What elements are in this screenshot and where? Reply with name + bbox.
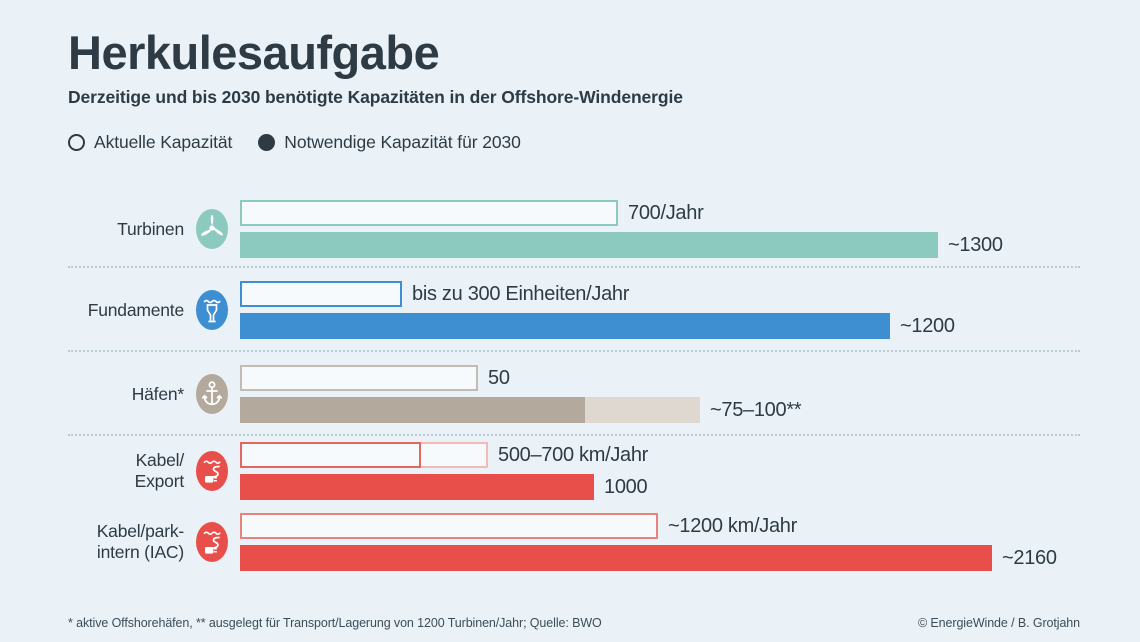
bar-target-haefen [240, 397, 700, 423]
bar-segment-strong [240, 442, 421, 468]
bar-value-current-kabel-iac: ~1200 km/Jahr [668, 515, 797, 538]
bar-current-turbinen [240, 200, 618, 226]
infographic-canvas: Herkulesaufgabe Derzeitige und bis 2030 … [0, 0, 1140, 642]
chart-rows: Turbinen 700/Jahr [0, 190, 1140, 578]
bar-line-current-kabel-export: 500–700 km/Jahr [240, 442, 1120, 468]
bar-current-haefen [240, 365, 478, 391]
bar-line-target-kabel-iac: ~2160 [240, 545, 1120, 571]
cable-plug-icon [194, 449, 230, 493]
page-title: Herkulesaufgabe [68, 28, 1068, 77]
bar-value-current-haefen: 50 [488, 367, 510, 390]
bar-value-target-haefen: ~75–100** [710, 399, 801, 422]
filled-circle-icon [258, 134, 275, 151]
bar-current-kabel-iac [240, 513, 658, 539]
bar-target-kabel-export [240, 474, 594, 500]
legend-item-current: Aktuelle Kapazität [68, 132, 232, 153]
bar-line-target-haefen: ~75–100** [240, 397, 1120, 423]
bar-target-fundamente [240, 313, 890, 339]
row-label-turbinen: Turbinen [68, 219, 194, 240]
bar-value-target-kabel-export: 1000 [604, 476, 647, 499]
wind-turbine-icon [194, 207, 230, 251]
bars-kabel-iac: ~1200 km/Jahr ~2160 [240, 513, 1120, 571]
bar-line-current-kabel-iac: ~1200 km/Jahr [240, 513, 1120, 539]
chart-row-kabel-iac: Kabel/park- intern (IAC) [0, 506, 1140, 578]
bar-value-target-fundamente: ~1200 [900, 315, 955, 338]
bar-line-target-fundamente: ~1200 [240, 313, 1120, 339]
legend: Aktuelle Kapazität Notwendige Kapazität … [68, 132, 521, 153]
bar-value-current-fundamente: bis zu 300 Einheiten/Jahr [412, 283, 629, 306]
credit-text: © EnergieWinde / B. Grotjahn [918, 616, 1080, 630]
chart-row-turbinen: Turbinen 700/Jahr [0, 190, 1140, 268]
bar-value-target-turbinen: ~1300 [948, 234, 1003, 257]
cable-plug-icon [194, 520, 230, 564]
bar-value-current-kabel-export: 500–700 km/Jahr [498, 444, 648, 467]
bar-target-turbinen [240, 232, 938, 258]
bar-segment-light [585, 397, 700, 423]
legend-label-target: Notwendige Kapazität für 2030 [284, 132, 520, 153]
page-subtitle: Derzeitige und bis 2030 benötigte Kapazi… [68, 87, 1068, 108]
bar-value-current-turbinen: 700/Jahr [628, 202, 703, 225]
chart-row-fundamente: Fundamente bis zu 300 Einheiten/J [0, 268, 1140, 352]
row-label-kabel-export: Kabel/ Export [68, 450, 194, 491]
bar-target-kabel-iac [240, 545, 992, 571]
header: Herkulesaufgabe Derzeitige und bis 2030 … [68, 28, 1068, 108]
legend-item-target: Notwendige Kapazität für 2030 [258, 132, 520, 153]
bars-haefen: 50 ~75–100** [240, 365, 1120, 423]
bar-line-target-turbinen: ~1300 [240, 232, 1120, 258]
bar-current-kabel-export [240, 442, 488, 468]
footnote-text: * aktive Offshorehäfen, ** ausgelegt für… [68, 616, 602, 630]
row-label-fundamente: Fundamente [68, 300, 194, 321]
bar-line-current-fundamente: bis zu 300 Einheiten/Jahr [240, 281, 1120, 307]
chart-row-kabel-export: Kabel/ Export [0, 436, 1140, 506]
bars-kabel-export: 500–700 km/Jahr 1000 [240, 442, 1120, 500]
bar-value-target-kabel-iac: ~2160 [1002, 547, 1057, 570]
row-label-haefen: Häfen* [68, 384, 194, 405]
bar-line-current-turbinen: 700/Jahr [240, 200, 1120, 226]
footer: * aktive Offshorehäfen, ** ausgelegt für… [68, 616, 1080, 630]
bar-segment-dark [240, 397, 585, 423]
bar-current-fundamente [240, 281, 402, 307]
foundation-jacket-icon [194, 288, 230, 332]
open-circle-icon [68, 134, 85, 151]
anchor-icon [194, 372, 230, 416]
chart-row-haefen: Häfen* 50 [0, 352, 1140, 436]
bars-fundamente: bis zu 300 Einheiten/Jahr ~1200 [240, 281, 1120, 339]
bar-line-target-kabel-export: 1000 [240, 474, 1120, 500]
bars-turbinen: 700/Jahr ~1300 [240, 200, 1120, 258]
row-label-kabel-iac: Kabel/park- intern (IAC) [68, 521, 194, 562]
legend-label-current: Aktuelle Kapazität [94, 132, 232, 153]
bar-line-current-haefen: 50 [240, 365, 1120, 391]
